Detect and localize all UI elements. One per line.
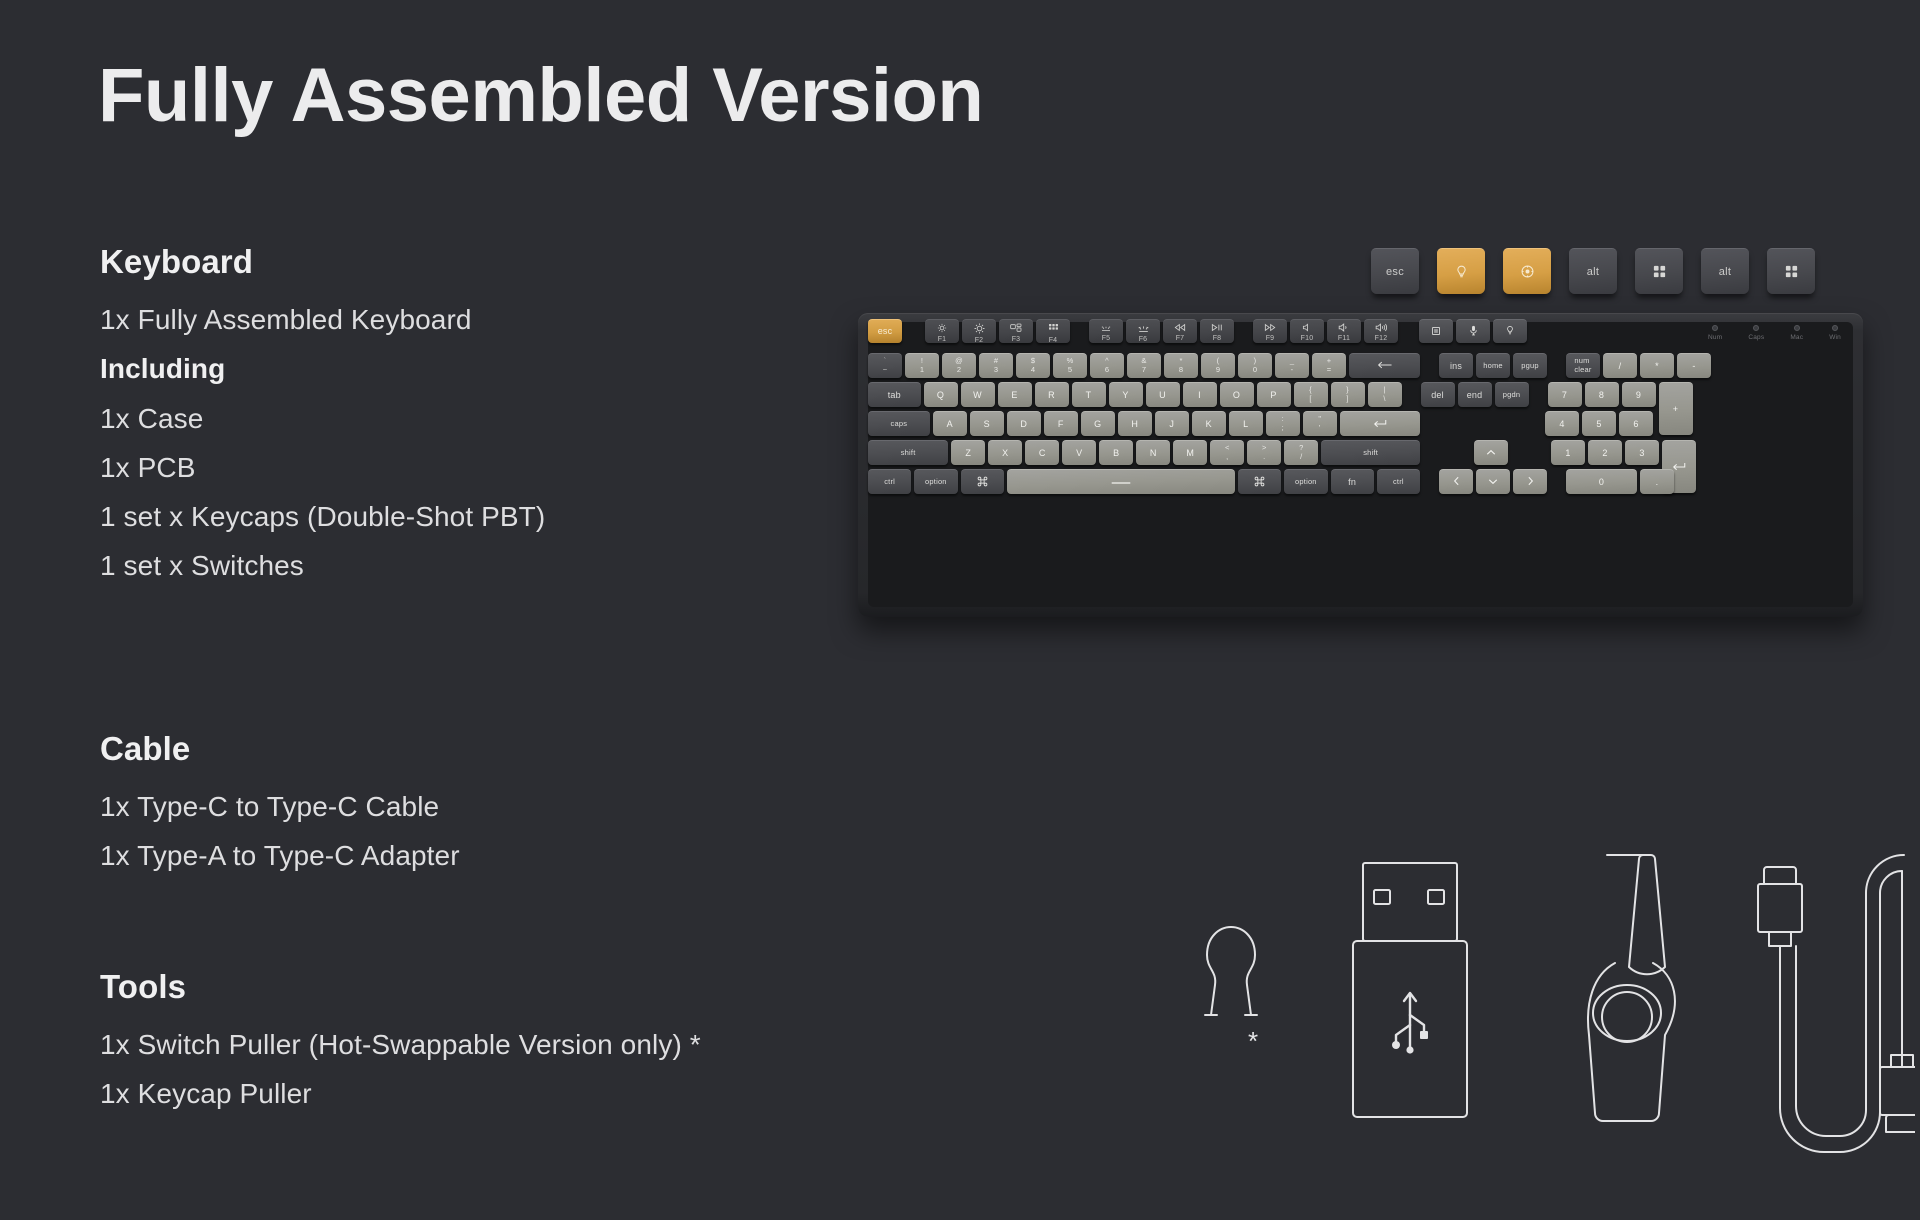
key-label: +	[1673, 404, 1678, 414]
key-label: 1	[1565, 448, 1570, 458]
led-dot	[1753, 325, 1759, 331]
key--9[interactable]: ?/	[1284, 440, 1318, 465]
key--11[interactable]: }]	[1331, 382, 1365, 407]
key-L-8[interactable]: L	[1229, 411, 1263, 436]
key-esc[interactable]: esc	[868, 319, 902, 343]
key-label: W	[973, 390, 982, 400]
key-label: \	[1383, 395, 1385, 404]
key-toplabel: <	[1225, 444, 1230, 453]
key-toplabel: (	[1217, 357, 1220, 366]
keyboard-row: escF1F2F3F4F5F6F7F8F9F10F11F12	[868, 319, 1527, 343]
key-toplabel: "	[1318, 415, 1321, 424]
key-num-6[interactable]: ^6	[1090, 353, 1124, 378]
key-option-right[interactable]: option	[1284, 469, 1327, 494]
rewind-icon	[1174, 323, 1186, 334]
key-label: 5	[1068, 366, 1072, 375]
key-backspace[interactable]	[1349, 353, 1420, 378]
key-label: H	[1131, 419, 1138, 429]
brightness-down-icon	[937, 323, 947, 335]
play-pause-icon	[1211, 323, 1223, 334]
key-arrow-right[interactable]	[1513, 469, 1547, 494]
key-toplabel: _	[1290, 357, 1294, 366]
section-heading-cable: Cable	[100, 730, 460, 768]
key-f2[interactable]: F2	[962, 319, 996, 343]
key-label: ;	[1282, 424, 1284, 433]
key-T-4[interactable]: T	[1072, 382, 1106, 407]
key-num-8[interactable]: *8	[1164, 353, 1198, 378]
key-bulb[interactable]	[1493, 319, 1527, 343]
key-caps[interactable]: caps	[868, 411, 930, 436]
key-numpad-1[interactable]: /	[1603, 353, 1637, 378]
key-label: '	[1319, 424, 1321, 433]
key-label: pgdn	[1503, 391, 1521, 400]
key-label: del	[1431, 390, 1444, 400]
extra-keycap-siri	[1503, 248, 1551, 294]
key-toplabel: ^	[1105, 357, 1109, 366]
key-label: G	[1094, 419, 1101, 429]
list-item: 1x PCB	[100, 443, 545, 492]
key-num-9[interactable]: (9	[1201, 353, 1235, 378]
key-gap	[1550, 353, 1566, 378]
key-num-12[interactable]: +=	[1312, 353, 1346, 378]
indicator-leds: NumCapsMacWin	[1708, 325, 1841, 341]
key-G-4[interactable]: G	[1081, 411, 1115, 436]
key-label: /	[1619, 361, 1622, 371]
key--9[interactable]: :;	[1266, 411, 1300, 436]
key-shift-left[interactable]: shift	[868, 440, 948, 465]
key-numpad-9[interactable]: 9	[1622, 382, 1656, 407]
keyboard-row: ctrloptionoptionfnctrl0.	[868, 469, 1674, 494]
key-sublabel: F4	[1049, 337, 1058, 343]
key-numpad-4[interactable]: 4	[1545, 411, 1579, 436]
arrow-left	[1453, 476, 1460, 488]
key-num-10[interactable]: )0	[1238, 353, 1272, 378]
key-label: Y	[1122, 390, 1128, 400]
key-label: C	[1039, 448, 1046, 458]
key-f8[interactable]: F8	[1200, 319, 1234, 343]
indicator-label: Num	[1708, 334, 1722, 341]
indicator-mac: Mac	[1790, 325, 1803, 341]
key-W-1[interactable]: W	[961, 382, 995, 407]
key-f1[interactable]: F1	[925, 319, 959, 343]
backlight-down-icon	[1100, 323, 1112, 334]
return-icon	[1672, 462, 1686, 473]
key-Z-0[interactable]: Z	[951, 440, 985, 465]
key-toplabel: %	[1067, 357, 1074, 366]
key-end[interactable]: end	[1458, 382, 1492, 407]
key-f11[interactable]: F11	[1327, 319, 1361, 343]
indicator-caps: Caps	[1748, 325, 1764, 341]
keyboard-image: escF1F2F3F4F5F6F7F8F9F10F11F12NumCapsMac…	[858, 313, 1863, 617]
key-label: 4	[1559, 419, 1564, 429]
keycap-puller-icon	[1205, 927, 1257, 1015]
indicator-label: Win	[1829, 334, 1841, 341]
key-V-3[interactable]: V	[1062, 440, 1096, 465]
key-label: ctrl	[884, 478, 895, 487]
key-toplabel: |	[1383, 386, 1385, 395]
section-cable: Cable 1x Type-C to Type-C Cable 1x Type-…	[100, 730, 460, 881]
list-item: 1x Switch Puller (Hot-Swappable Version …	[100, 1020, 701, 1069]
key-label: 8	[1179, 366, 1183, 375]
key-numpad-2[interactable]: *	[1640, 353, 1674, 378]
list-item: 1 set x Switches	[100, 541, 545, 590]
launchpad-icon	[1048, 323, 1059, 336]
key-label: E	[1011, 390, 1017, 400]
mute-icon	[1302, 323, 1313, 334]
key-sublabel: F8	[1213, 335, 1222, 343]
section-tools: Tools 1x Switch Puller (Hot-Swappable Ve…	[100, 968, 701, 1119]
page-title: Fully Assembled Version	[98, 58, 983, 134]
windows-icon	[1784, 264, 1799, 279]
key--12[interactable]: |\	[1368, 382, 1402, 407]
key-label: Q	[937, 390, 944, 400]
key-label: .	[1263, 453, 1265, 462]
list-item: Including	[100, 344, 545, 393]
key-label: B	[1113, 448, 1119, 458]
led-dot	[1832, 325, 1838, 331]
footnote-asterisk: *	[1248, 1028, 1258, 1054]
key-ctrl-left[interactable]: ctrl	[868, 469, 911, 494]
key--10[interactable]: {[	[1294, 382, 1328, 407]
keyboard-row: `~!1@2#3$4%5^6&7*8(9)0_-+=inshomepgupnum…	[868, 353, 1711, 378]
key-sublabel: F5	[1102, 335, 1111, 343]
keyboard-row: capsASDFGHJKL:;"'456	[868, 411, 1653, 436]
key-toplabel: @	[955, 357, 963, 366]
extra-keycap-label: esc	[1386, 266, 1404, 278]
key-label: 6	[1633, 419, 1638, 429]
key-toplabel: &	[1141, 357, 1146, 366]
key-toplabel: *	[1179, 357, 1182, 366]
key-label: F	[1058, 419, 1064, 429]
arrow-down	[1488, 478, 1498, 487]
key-E-2[interactable]: E	[998, 382, 1032, 407]
key-label: ~	[883, 366, 888, 375]
key-f4[interactable]: F4	[1036, 319, 1070, 343]
list-item: 1x Case	[100, 394, 545, 443]
volume-down-icon	[1338, 323, 1350, 334]
key-label: T	[1086, 390, 1092, 400]
key-home[interactable]: home	[1476, 353, 1510, 378]
key-label: A	[947, 419, 953, 429]
mission-control-icon	[1010, 323, 1022, 335]
key-numpad-2[interactable]: 2	[1588, 440, 1622, 465]
key-label: shift	[901, 449, 916, 458]
key-label: esc	[878, 326, 893, 336]
key-pgdn[interactable]: pgdn	[1495, 382, 1529, 407]
key-F-3[interactable]: F	[1044, 411, 1078, 436]
key-label: 0	[1253, 366, 1257, 375]
key-arrow-left[interactable]	[1439, 469, 1473, 494]
key--7[interactable]: <,	[1210, 440, 1244, 465]
key-gap	[1423, 411, 1545, 436]
key-label: 7	[1142, 366, 1146, 375]
key-label: O	[1233, 390, 1240, 400]
key-f5[interactable]: F5	[1089, 319, 1123, 343]
key-toplabel: !	[921, 357, 923, 366]
key-toplabel: :	[1282, 415, 1284, 424]
key-toplabel: #	[994, 357, 998, 366]
list-item: 1x Fully Assembled Keyboard	[100, 295, 545, 344]
key-I-7[interactable]: I	[1183, 382, 1217, 407]
key-numpad-0[interactable]: numclear	[1566, 353, 1600, 378]
key-microphone[interactable]	[1456, 319, 1490, 343]
key-label: end	[1467, 390, 1483, 400]
key-numpad-1[interactable]: 1	[1551, 440, 1585, 465]
key-tab[interactable]: tab	[868, 382, 921, 407]
key-label: option	[1295, 478, 1317, 487]
key-gap	[1401, 319, 1419, 343]
arrow-up	[1486, 449, 1496, 458]
key-label: shift	[1363, 449, 1378, 458]
key-label: option	[925, 478, 947, 487]
key-label: I	[1198, 390, 1201, 400]
extra-keycap-windows-right	[1767, 248, 1815, 294]
key-gap	[1550, 469, 1566, 494]
key-num-3[interactable]: #3	[979, 353, 1013, 378]
key-Y-5[interactable]: Y	[1109, 382, 1143, 407]
key-label: caps	[891, 420, 908, 429]
key-N-5[interactable]: N	[1136, 440, 1170, 465]
key-P-9[interactable]: P	[1257, 382, 1291, 407]
key-label: R	[1048, 390, 1055, 400]
key--8[interactable]: >.	[1247, 440, 1281, 465]
key-gap	[1073, 319, 1089, 343]
key-label: L	[1243, 419, 1248, 429]
key-toplabel: {	[1309, 386, 1312, 395]
key-toplabel: `	[884, 357, 887, 366]
led-dot	[1712, 325, 1718, 331]
backspace-icon	[1377, 361, 1393, 371]
key-label: X	[1002, 448, 1008, 458]
key-arrow-down[interactable]	[1476, 469, 1510, 494]
key-label: .	[1656, 477, 1659, 487]
key-toplabel: ?	[1299, 444, 1303, 453]
key-label: 9	[1216, 366, 1220, 375]
key-num-2[interactable]: @2	[942, 353, 976, 378]
type-a-to-type-c-adapter-icon	[1353, 863, 1467, 1117]
key-label: ins	[1450, 361, 1462, 371]
key-sublabel: F7	[1176, 335, 1185, 343]
key-U-6[interactable]: U	[1146, 382, 1180, 407]
key-num-7[interactable]: &7	[1127, 353, 1161, 378]
key-numpad-8[interactable]: 8	[1585, 382, 1619, 407]
key-numpad-0[interactable]: 0	[1566, 469, 1637, 494]
key-f10[interactable]: F10	[1290, 319, 1324, 343]
list-item: 1 set x Keycaps (Double-Shot PBT)	[100, 492, 545, 541]
key-toplabel: )	[1254, 357, 1257, 366]
key-label: tab	[888, 390, 901, 400]
key-label: 9	[1636, 390, 1641, 400]
key-label: D	[1020, 419, 1027, 429]
extra-keycap-label: alt	[1587, 266, 1600, 278]
indicator-win: Win	[1829, 325, 1841, 341]
key-numpad-dot[interactable]: .	[1640, 469, 1674, 494]
key--10[interactable]: "'	[1303, 411, 1337, 436]
bulb-icon	[1505, 325, 1515, 338]
siri-icon	[1520, 264, 1535, 279]
key-label: M	[1186, 448, 1194, 458]
key-arrow-up[interactable]	[1474, 440, 1508, 465]
key-fn[interactable]: fn	[1331, 469, 1374, 494]
key-label: K	[1206, 419, 1212, 429]
type-c-cable-icon	[1758, 849, 1915, 1152]
key-H-5[interactable]: H	[1118, 411, 1152, 436]
cmd-icon	[1254, 476, 1265, 489]
key-C-2[interactable]: C	[1025, 440, 1059, 465]
key-numpad-3[interactable]: 3	[1625, 440, 1659, 465]
key-label: 2	[957, 366, 961, 375]
key-pgup[interactable]: pgup	[1513, 353, 1547, 378]
brightness-up-icon	[974, 323, 985, 336]
key-label: *	[1655, 361, 1659, 371]
key-R-3[interactable]: R	[1035, 382, 1069, 407]
key-toplabel: $	[1031, 357, 1035, 366]
key-ctrl-right[interactable]: ctrl	[1377, 469, 1420, 494]
extra-keycap-alt-left: alt	[1569, 248, 1617, 294]
key-label: -	[1692, 361, 1695, 371]
section-heading-keyboard: Keyboard	[100, 243, 545, 281]
key-label: N	[1150, 448, 1157, 458]
key-sublabel: F1	[938, 336, 947, 343]
key-label: 2	[1602, 448, 1607, 458]
key-label: numclear	[1574, 357, 1591, 374]
extra-keycap-esc: esc	[1371, 248, 1419, 294]
microphone-icon	[1469, 325, 1478, 338]
key-sublabel: F3	[1012, 336, 1021, 343]
key-label: fn	[1348, 477, 1356, 487]
key-label: 0	[1599, 477, 1604, 487]
extra-keycap-alt-right: alt	[1701, 248, 1749, 294]
key-label: /	[1300, 453, 1302, 462]
key-D-2[interactable]: D	[1007, 411, 1041, 436]
key-label: V	[1076, 448, 1082, 458]
key-label: 6	[1105, 366, 1109, 375]
key-S-1[interactable]: S	[970, 411, 1004, 436]
key-label: [	[1309, 395, 1311, 404]
key-label: ctrl	[1393, 478, 1404, 487]
list-item: 1x Type-C to Type-C Cable	[100, 782, 460, 831]
key-num-4[interactable]: $4	[1016, 353, 1050, 378]
key-cmd-left[interactable]	[961, 469, 1004, 494]
key-numpad-5[interactable]: 5	[1582, 411, 1616, 436]
key-J-6[interactable]: J	[1155, 411, 1189, 436]
section-keyboard: Keyboard 1x Fully Assembled Keyboard Inc…	[100, 243, 545, 591]
indicator-label: Caps	[1748, 334, 1764, 341]
key-label: -	[1291, 366, 1294, 375]
list-item: 1x Type-A to Type-C Adapter	[100, 831, 460, 880]
key-f3[interactable]: F3	[999, 319, 1033, 343]
key-gap	[1423, 469, 1439, 494]
key-return[interactable]	[1340, 411, 1420, 436]
key-X-1[interactable]: X	[988, 440, 1022, 465]
bulb-icon	[1454, 264, 1469, 280]
key-num-5[interactable]: %5	[1053, 353, 1087, 378]
list-item: 1x Keycap Puller	[100, 1069, 701, 1118]
key-B-4[interactable]: B	[1099, 440, 1133, 465]
key-gap	[1237, 319, 1253, 343]
key-num-11[interactable]: _-	[1275, 353, 1309, 378]
key-label: ]	[1346, 395, 1348, 404]
key-f7[interactable]: F7	[1163, 319, 1197, 343]
key-label: 1	[920, 366, 924, 375]
volume-up-icon	[1375, 323, 1388, 334]
key-shift-right[interactable]: shift	[1321, 440, 1420, 465]
key-label: ,	[1226, 453, 1228, 462]
key-f9[interactable]: F9	[1253, 319, 1287, 343]
key-num-0[interactable]: `~	[868, 353, 902, 378]
key-gap	[1423, 353, 1439, 378]
key-label: 3	[994, 366, 998, 375]
key-toplabel: >	[1262, 444, 1267, 453]
key-f12[interactable]: F12	[1364, 319, 1398, 343]
key-cmd-right[interactable]	[1238, 469, 1281, 494]
key-label: J	[1169, 419, 1174, 429]
key-num-1[interactable]: !1	[905, 353, 939, 378]
extra-keycap-label: alt	[1719, 266, 1732, 278]
key-label: 4	[1031, 366, 1035, 375]
indicator-num: Num	[1708, 325, 1722, 341]
key-sublabel: F12	[1375, 335, 1388, 343]
key-label: 5	[1596, 419, 1601, 429]
key-K-7[interactable]: K	[1192, 411, 1226, 436]
key-ins[interactable]: ins	[1439, 353, 1473, 378]
key-numpad-3[interactable]: -	[1677, 353, 1711, 378]
key-label: home	[1483, 362, 1503, 371]
key-A-0[interactable]: A	[933, 411, 967, 436]
indicator-label: Mac	[1790, 334, 1803, 341]
key-gap	[905, 319, 925, 343]
key-label: =	[1327, 366, 1332, 375]
key-numpad-6[interactable]: 6	[1619, 411, 1653, 436]
arrow-right	[1527, 476, 1534, 488]
key-toplabel: +	[1327, 357, 1332, 366]
accessories-illustration	[1175, 845, 1915, 1165]
key-Q-0[interactable]: Q	[924, 382, 958, 407]
key-label: 7	[1562, 390, 1567, 400]
key-option-left[interactable]: option	[914, 469, 957, 494]
screenshot-icon	[1431, 326, 1441, 338]
extra-keycap-bulb	[1437, 248, 1485, 294]
key-label: pgup	[1521, 362, 1539, 371]
extra-keycap-windows-left	[1635, 248, 1683, 294]
key-sublabel: F2	[975, 337, 984, 343]
key-screenshot[interactable]	[1419, 319, 1453, 343]
led-dot	[1794, 325, 1800, 331]
key-label: 8	[1599, 390, 1604, 400]
key-sublabel: F11	[1338, 335, 1350, 343]
key-space[interactable]	[1007, 469, 1235, 494]
switch-puller-icon	[1588, 855, 1675, 1121]
fast-forward-icon	[1264, 323, 1276, 334]
key-del[interactable]: del	[1421, 382, 1455, 407]
key-numpad-7[interactable]: 7	[1548, 382, 1582, 407]
key-sublabel: F9	[1266, 335, 1275, 343]
windows-icon	[1652, 264, 1667, 279]
key-numpad-plus[interactable]: +	[1659, 382, 1693, 435]
key-toplabel: }	[1346, 386, 1349, 395]
key-sublabel: F6	[1139, 336, 1148, 343]
backlight-up-icon	[1137, 323, 1150, 335]
key-label: 3	[1639, 448, 1644, 458]
key-O-8[interactable]: O	[1220, 382, 1254, 407]
key-M-6[interactable]: M	[1173, 440, 1207, 465]
key-label: U	[1159, 390, 1166, 400]
extra-keycaps-row: esc alt a	[1371, 248, 1815, 294]
key-sublabel: F10	[1301, 335, 1314, 343]
space-icon	[1110, 478, 1132, 487]
key-f6[interactable]: F6	[1126, 319, 1160, 343]
key-label: Z	[965, 448, 971, 458]
